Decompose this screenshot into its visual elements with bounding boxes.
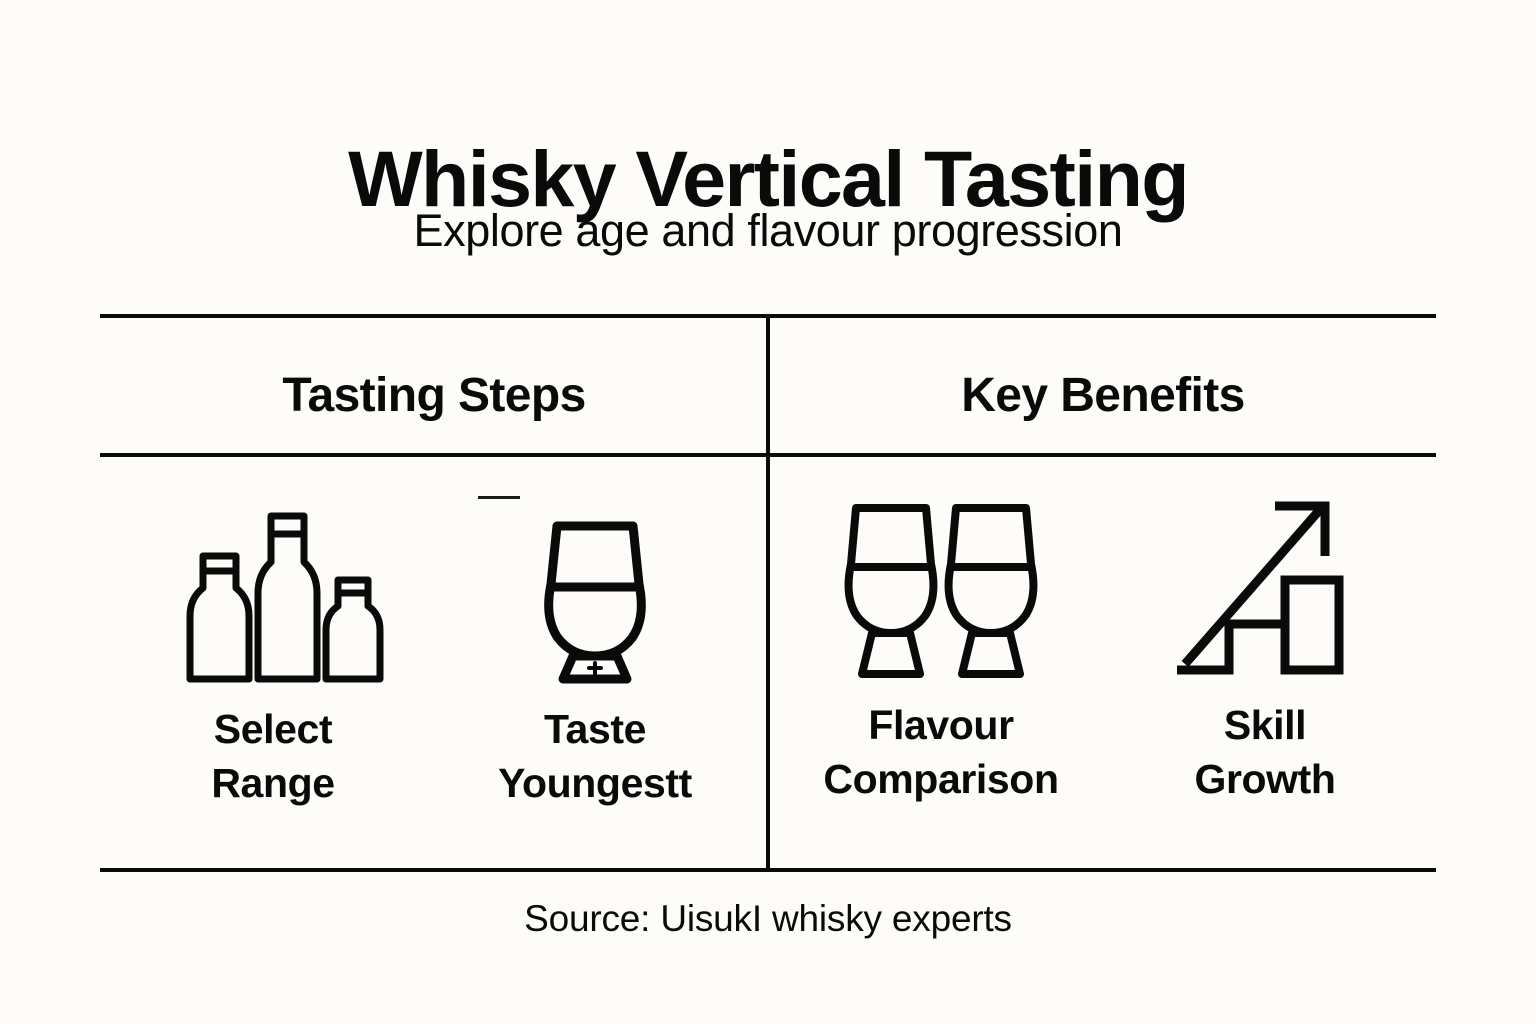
page-subtitle: Explore age and flavour progression bbox=[0, 208, 1536, 253]
growth-chart-arrow-icon bbox=[1167, 484, 1363, 680]
item-flavour-comparison: Flavour Comparison bbox=[816, 484, 1066, 806]
column-body-key-benefits: Flavour Comparison Skill Growth bbox=[770, 470, 1436, 874]
item-label-skill-growth: Skill Growth bbox=[1194, 698, 1335, 806]
item-skill-growth: Skill Growth bbox=[1140, 484, 1390, 806]
infographic-canvas: Whisky Vertical Tasting Explore age and … bbox=[0, 0, 1536, 1024]
item-label-select-range: Select Range bbox=[211, 702, 334, 810]
source-caption: Source: UisukI whisky experts bbox=[0, 898, 1536, 940]
column-header-key-benefits: Key Benefits bbox=[770, 355, 1436, 435]
item-select-range: Select Range bbox=[148, 488, 398, 810]
item-label-taste-youngest: Taste Youngestt bbox=[498, 702, 692, 810]
item-label-flavour-comparison: Flavour Comparison bbox=[823, 698, 1058, 806]
stray-line-artifact bbox=[478, 496, 520, 499]
item-taste-youngest: Taste Youngestt bbox=[470, 488, 720, 810]
column-header-tasting-steps: Tasting Steps bbox=[100, 355, 768, 435]
whisky-bottles-icon bbox=[148, 488, 398, 684]
whisky-glass-icon bbox=[505, 488, 685, 684]
two-whisky-glasses-icon bbox=[826, 484, 1056, 680]
column-body-tasting-steps: Select Range Taste Youngestt bbox=[100, 470, 768, 878]
